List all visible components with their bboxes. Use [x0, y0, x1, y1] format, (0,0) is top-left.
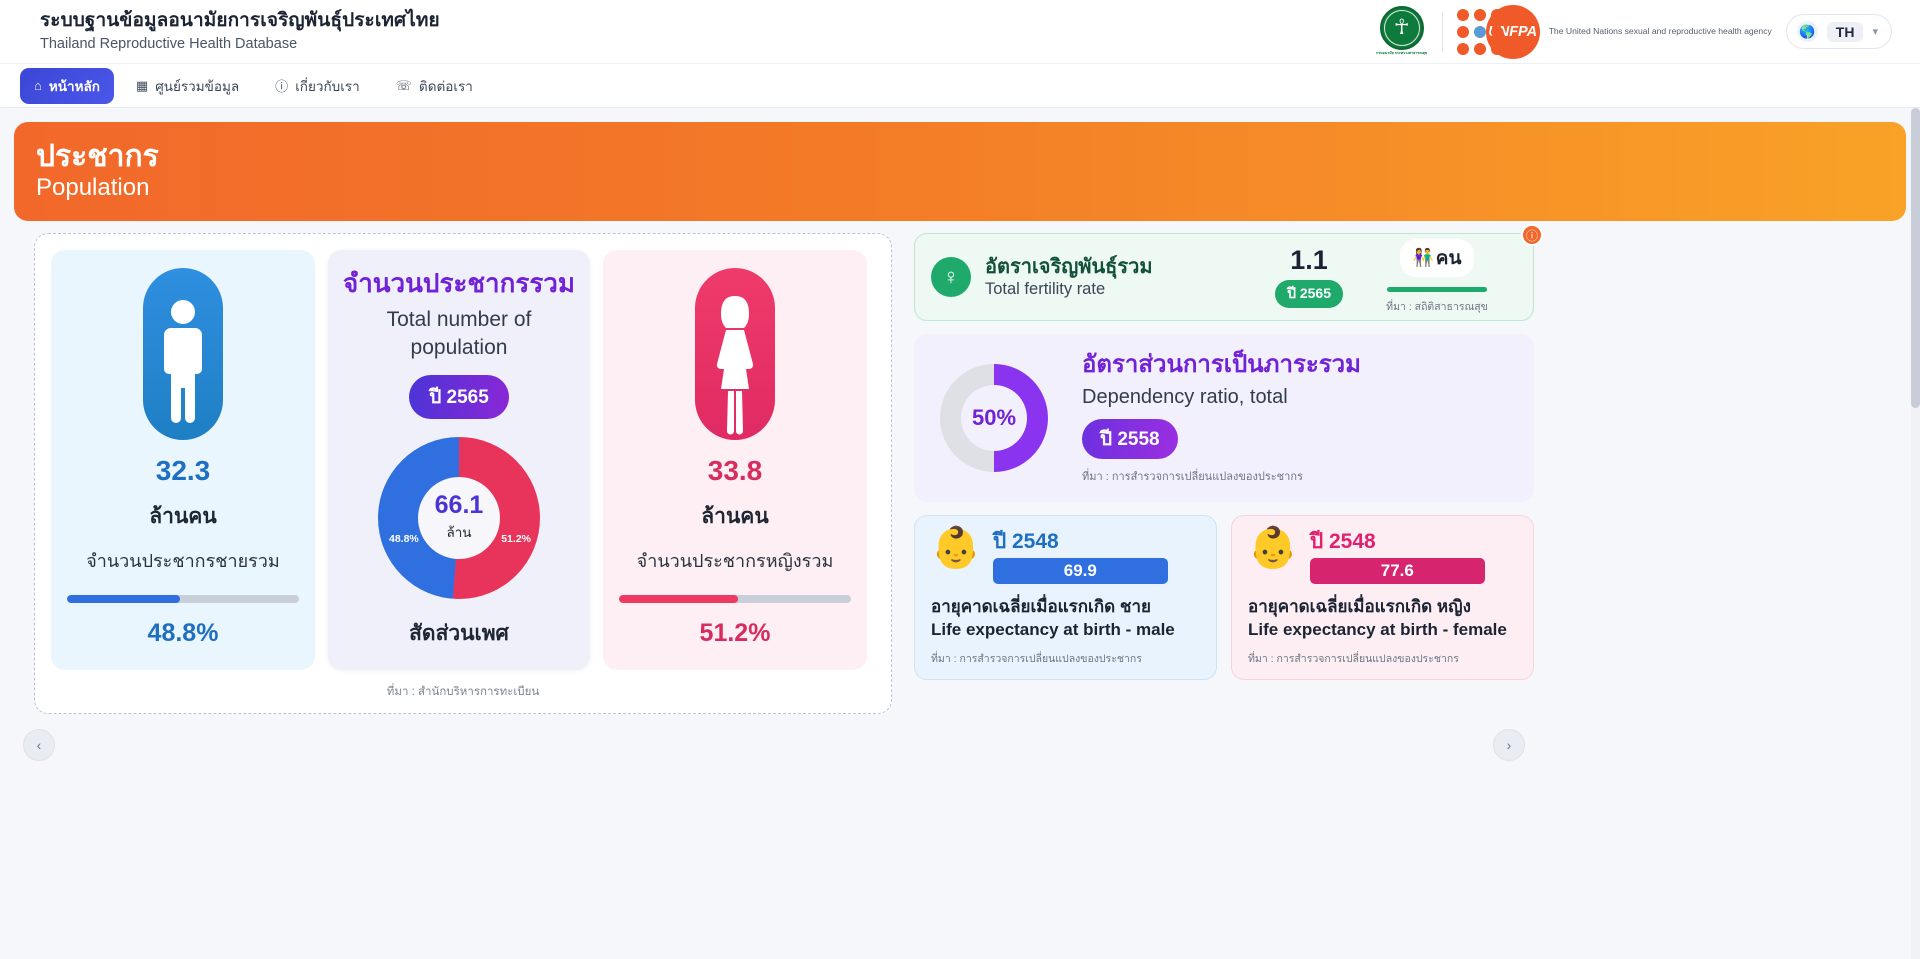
nav-item-data-center[interactable]: ▦ ศูนย์รวมข้อมูล — [122, 68, 253, 104]
scrollbar-thumb[interactable] — [1911, 108, 1920, 408]
le-male-value-bar: 69.9 — [993, 558, 1168, 584]
dependency-title-en: Dependency ratio, total — [1082, 384, 1361, 410]
dashboard-stage: ‹ › 32.3 ล้านคน จำนวนประชากรชายรวม — [0, 221, 1920, 714]
male-unit: ล้านคน — [67, 500, 299, 533]
app-header: ระบบฐานข้อมูลอนามัยการเจริญพันธุ์ประเทศไ… — [0, 0, 1920, 63]
fertility-value: 1.1 — [1275, 247, 1343, 274]
total-title-en: Total number of population — [342, 306, 576, 361]
le-male-year: ปี 2548 — [993, 530, 1168, 553]
total-year-badge: ปี 2565 — [409, 375, 509, 419]
family-icon: 👫 — [1413, 248, 1433, 268]
unfpa-tagline: The United Nations sexual and reproducti… — [1549, 26, 1772, 38]
le-male-values: ปี 2548 69.9 — [993, 530, 1168, 584]
male-value: 32.3 — [67, 456, 299, 487]
female-progress-bar — [619, 595, 851, 603]
phone-icon: ☏ — [396, 78, 412, 94]
le-female-values: ปี 2548 77.6 — [1310, 530, 1485, 584]
male-figure-icon — [143, 268, 223, 440]
population-cards-row: 32.3 ล้านคน จำนวนประชากรชายรวม 48.8% จำน… — [51, 250, 875, 670]
male-percent: 48.8% — [67, 619, 299, 648]
total-population-unit: ล้าน — [446, 521, 471, 543]
dependency-percent: 50% — [972, 405, 1016, 431]
male-progress-bar — [67, 595, 299, 603]
le-female-year: ปี 2548 — [1310, 530, 1485, 553]
header-logos: ☥ กรมอนามัย กระทรวงสาธารณสุข UNFPA The U… — [1376, 5, 1892, 59]
donut-label-male: 48.8% — [389, 533, 419, 545]
nav-label-contact: ติดต่อเรา — [419, 75, 473, 97]
female-population-card[interactable]: 33.8 ล้านคน จำนวนประชากรหญิงรวม 51.2% — [603, 250, 867, 670]
grid-icon: ▦ — [136, 78, 148, 94]
life-expectancy-row: 👶 ปี 2548 69.9 อายุคาดเฉลี่ยเมื่อแรกเกิด… — [914, 515, 1534, 680]
fertility-text-block: อัตราเจริญพันธุ์รวม Total fertility rate — [985, 255, 1153, 300]
fertility-title-th: อัตราเจริญพันธุ์รวม — [985, 255, 1153, 279]
le-female-title-en: Life expectancy at birth - female — [1248, 619, 1517, 642]
logo-divider — [1442, 12, 1443, 52]
female-progress-fill — [619, 595, 738, 603]
carousel-next-button[interactable]: › — [1493, 729, 1525, 761]
dependency-donut-chart: 50% — [940, 364, 1048, 472]
moph-seal-icon: ☥ — [1380, 6, 1424, 50]
female-percent: 51.2% — [619, 619, 851, 648]
page-scrollbar[interactable] — [1911, 108, 1920, 959]
fertility-unit-pill: 👫 คน — [1400, 239, 1475, 277]
app-title-th: ระบบฐานข้อมูลอนามัยการเจริญพันธุ์ประเทศไ… — [40, 9, 440, 33]
le-male-title-en: Life expectancy at birth - male — [931, 619, 1200, 642]
language-code: TH — [1827, 22, 1864, 42]
pregnant-woman-icon: ♀ — [931, 257, 971, 297]
indicator-column: ⓘ ♀ อัตราเจริญพันธุ์รวม Total fertility … — [914, 233, 1534, 714]
dependency-year-badge: ปี 2558 — [1082, 419, 1178, 459]
dependency-donut-center: 50% — [961, 385, 1027, 451]
total-population-card[interactable]: จำนวนประชากรรวม Total number of populati… — [328, 250, 590, 670]
sex-ratio-donut-chart: 66.1 ล้าน 48.8% 51.2% — [378, 437, 540, 599]
moph-logo: ☥ กรมอนามัย กระทรวงสาธารณสุข — [1376, 6, 1428, 58]
app-title-en: Thailand Reproductive Health Database — [40, 35, 440, 54]
male-progress-fill — [67, 595, 180, 603]
male-label: จำนวนประชากรชายรวม — [67, 549, 299, 573]
main-navigation: ⌂ หน้าหลัก ▦ ศูนย์รวมข้อมูล ⓘ เกี่ยวกับเ… — [0, 63, 1920, 108]
total-fertility-rate-card[interactable]: ⓘ ♀ อัตราเจริญพันธุ์รวม Total fertility … — [914, 233, 1534, 321]
total-population-value: 66.1 — [435, 493, 484, 518]
le-female-head: 👶 ปี 2548 77.6 — [1248, 530, 1517, 584]
chevron-left-icon: ‹ — [37, 737, 42, 753]
language-selector[interactable]: 🌎 TH ▾ — [1786, 14, 1892, 49]
fertility-title-en: Total fertility rate — [985, 279, 1153, 300]
fertility-indicator-bar — [1387, 287, 1487, 292]
fertility-value-block: 1.1 ปี 2565 — [1275, 247, 1343, 308]
baby-boy-icon: 👶 — [931, 530, 981, 566]
le-male-title-th: อายุคาดเฉลี่ยเมื่อแรกเกิด ชาย — [931, 596, 1200, 619]
donut-center: 66.1 ล้าน — [418, 477, 500, 559]
info-icon: ⓘ — [275, 76, 288, 95]
nav-item-home[interactable]: ⌂ หน้าหลัก — [20, 68, 114, 104]
life-expectancy-male-card[interactable]: 👶 ปี 2548 69.9 อายุคาดเฉลี่ยเมื่อแรกเกิด… — [914, 515, 1217, 680]
dependency-ratio-card[interactable]: 50% อัตราส่วนการเป็นภาระรวม Dependency r… — [914, 334, 1534, 502]
banner-title-th: ประชากร — [36, 140, 1906, 175]
female-figure-icon — [695, 268, 775, 440]
brand-block: ระบบฐานข้อมูลอนามัยการเจริญพันธุ์ประเทศไ… — [40, 9, 440, 54]
fertility-source: ที่มา : สถิติสาธารณสุข — [1357, 298, 1517, 315]
male-population-card[interactable]: 32.3 ล้านคน จำนวนประชากรชายรวม 48.8% — [51, 250, 315, 670]
fertility-unit-block: 👫 คน ที่มา : สถิติสาธารณสุข — [1357, 239, 1517, 315]
nav-item-about[interactable]: ⓘ เกี่ยวกับเรา — [261, 68, 373, 104]
globe-icon: 🌎 — [1797, 21, 1818, 42]
chevron-right-icon: › — [1507, 737, 1512, 753]
total-title-th: จำนวนประชากรรวม — [342, 268, 576, 299]
female-unit: ล้านคน — [619, 500, 851, 533]
banner-title-en: Population — [36, 174, 1906, 203]
nav-label-data-center: ศูนย์รวมข้อมูล — [155, 75, 239, 97]
donut-label-female: 51.2% — [501, 533, 531, 545]
unfpa-dots-icon — [1457, 9, 1503, 55]
life-expectancy-female-card[interactable]: 👶 ปี 2548 77.6 อายุคาดเฉลี่ยเมื่อแรกเกิด… — [1231, 515, 1534, 680]
info-icon[interactable]: ⓘ — [1521, 224, 1543, 246]
chevron-down-icon: ▾ — [1872, 25, 1878, 38]
dependency-text-block: อัตราส่วนการเป็นภาระรวม Dependency ratio… — [1082, 351, 1361, 485]
moph-caption: กรมอนามัย กระทรวงสาธารณสุข — [1376, 51, 1427, 55]
unfpa-logo: UNFPA The United Nations sexual and repr… — [1457, 5, 1772, 59]
nav-label-home: หน้าหลัก — [49, 75, 100, 97]
female-value: 33.8 — [619, 456, 851, 487]
le-male-head: 👶 ปี 2548 69.9 — [931, 530, 1200, 584]
fertility-unit-label: คน — [1436, 243, 1462, 273]
page-banner: ประชากร Population — [14, 122, 1906, 221]
le-female-source: ที่มา : การสำรวจการเปลี่ยนแปลงของประชากร — [1248, 650, 1517, 667]
population-source: ที่มา : สำนักบริหารการทะเบียน — [51, 683, 875, 701]
female-label: จำนวนประชากรหญิงรวม — [619, 549, 851, 573]
nav-label-about: เกี่ยวกับเรา — [295, 75, 359, 97]
fertility-year-badge: ปี 2565 — [1275, 280, 1343, 308]
le-male-source: ที่มา : การสำรวจการเปลี่ยนแปลงของประชากร — [931, 650, 1200, 667]
dependency-source: ที่มา : การสำรวจการเปลี่ยนแปลงของประชากร — [1082, 467, 1361, 485]
baby-girl-icon: 👶 — [1248, 530, 1298, 566]
carousel-prev-button[interactable]: ‹ — [23, 729, 55, 761]
caduceus-icon: ☥ — [1394, 17, 1410, 38]
nav-item-contact[interactable]: ☏ ติดต่อเรา — [382, 68, 487, 104]
le-female-title-th: อายุคาดเฉลี่ยเมื่อแรกเกิด หญิง — [1248, 596, 1517, 619]
le-female-value-bar: 77.6 — [1310, 558, 1485, 584]
sex-ratio-caption: สัดส่วนเพศ — [342, 617, 576, 650]
dependency-title-th: อัตราส่วนการเป็นภาระรวม — [1082, 351, 1361, 380]
home-icon: ⌂ — [34, 78, 42, 93]
population-breakdown-panel: 32.3 ล้านคน จำนวนประชากรชายรวม 48.8% จำน… — [34, 233, 892, 714]
